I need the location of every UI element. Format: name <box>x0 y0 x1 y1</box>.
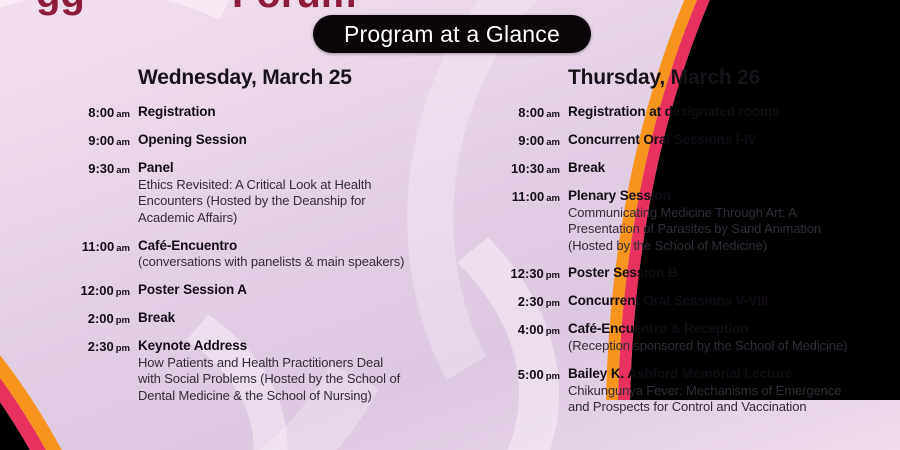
schedule-row-description: Ethics Revisited: A Critical Look at Hea… <box>138 177 466 227</box>
schedule-columns: Wednesday, March 25 8:00amRegistration9:… <box>0 0 900 450</box>
schedule-row-ampm: am <box>546 137 560 148</box>
schedule-row-time: 2:00pm <box>46 310 138 326</box>
schedule-row-ampm: pm <box>116 343 130 354</box>
schedule-row-time: 4:00pm <box>476 321 568 337</box>
schedule-row-ampm: pm <box>546 371 560 382</box>
schedule-row-time: 9:30am <box>46 160 138 176</box>
schedule-row-description: (Reception sponsored by the School of Me… <box>568 338 896 355</box>
schedule-row-time: 8:00am <box>46 104 138 120</box>
schedule-row: 5:00pmBailey K. Ashford Memorial Lecture… <box>476 366 896 416</box>
schedule-row-ampm: am <box>116 109 130 120</box>
schedule-row-title: Concurrent Oral Sessions V-VIII <box>568 293 896 310</box>
schedule-row-time: 2:30pm <box>46 338 138 354</box>
schedule-row-description: (conversations with panelists & main spe… <box>138 254 466 271</box>
schedule-row-title: Poster Session A <box>138 282 466 299</box>
program-poster: gg Forum Program at a Glance Wednesday, … <box>0 0 900 450</box>
schedule-row: 9:00amOpening Session <box>46 132 466 149</box>
schedule-row-ampm: am <box>546 109 560 120</box>
schedule-row-title: Keynote Address <box>138 338 466 355</box>
schedule-row-title: Bailey K. Ashford Memorial Lecture <box>568 366 896 383</box>
schedule-row-body: Poster Session A <box>138 282 466 299</box>
schedule-row-ampm: pm <box>116 287 130 298</box>
schedule-row-title: Registration at designated rooms <box>568 104 896 121</box>
schedule-row: 11:00amCafé-Encuentro(conversations with… <box>46 238 466 272</box>
day-title-thursday: Thursday, March 26 <box>476 66 896 90</box>
schedule-row-body: Café-Encuentro & Reception(Reception spo… <box>568 321 896 355</box>
schedule-row: 12:00pmPoster Session A <box>46 282 466 299</box>
schedule-row-body: Plenary SessionCommunicating Medicine Th… <box>568 188 896 255</box>
schedule-row-body: Café-Encuentro(conversations with paneli… <box>138 238 466 272</box>
schedule-row: 9:30amPanelEthics Revisited: A Critical … <box>46 160 466 227</box>
schedule-row: 2:30pmKeynote AddressHow Patients and He… <box>46 338 466 405</box>
schedule-row-description: Communicating Medicine Through Art: A Pr… <box>568 205 896 255</box>
schedule-row-time: 2:30pm <box>476 293 568 309</box>
schedule-row-ampm: pm <box>546 270 560 281</box>
schedule-row-ampm: am <box>116 137 130 148</box>
schedule-row-title: Poster Session B <box>568 265 896 282</box>
schedule-row-body: Break <box>138 310 466 327</box>
schedule-row-time: 8:00am <box>476 104 568 120</box>
schedule-row-title: Concurrent Oral Sessions I-IV <box>568 132 896 149</box>
program-at-a-glance-badge: Program at a Glance <box>313 15 591 53</box>
schedule-row: 10:30amBreak <box>476 160 896 177</box>
schedule-row-ampm: pm <box>546 298 560 309</box>
schedule-row-time: 12:30pm <box>476 265 568 281</box>
schedule-row: 8:00amRegistration at designated rooms <box>476 104 896 121</box>
schedule-row-ampm: pm <box>546 326 560 337</box>
schedule-row-time: 9:00am <box>476 132 568 148</box>
schedule-row-time: 5:00pm <box>476 366 568 382</box>
program-at-a-glance-label: Program at a Glance <box>344 21 560 48</box>
schedule-row-time: 11:00am <box>476 188 568 204</box>
schedule-row-body: PanelEthics Revisited: A Critical Look a… <box>138 160 466 227</box>
day-title-wednesday: Wednesday, March 25 <box>46 66 466 90</box>
schedule-row: 12:30pmPoster Session B <box>476 265 896 282</box>
schedule-row-body: Registration <box>138 104 466 121</box>
schedule-row: 2:30pmConcurrent Oral Sessions V-VIII <box>476 293 896 310</box>
schedule-row-ampm: am <box>546 193 560 204</box>
schedule-row-body: Bailey K. Ashford Memorial LectureChikun… <box>568 366 896 416</box>
schedule-row-title: Plenary Session <box>568 188 896 205</box>
schedule-row-time: 9:00am <box>46 132 138 148</box>
schedule-row-ampm: am <box>116 165 130 176</box>
schedule-row: 9:00amConcurrent Oral Sessions I-IV <box>476 132 896 149</box>
schedule-row-time: 12:00pm <box>46 282 138 298</box>
schedule-row: 4:00pmCafé-Encuentro & Reception(Recepti… <box>476 321 896 355</box>
schedule-row-title: Registration <box>138 104 466 121</box>
schedule-row-ampm: am <box>116 243 130 254</box>
schedule-row-body: Break <box>568 160 896 177</box>
schedule-rows-wednesday: 8:00amRegistration9:00amOpening Session9… <box>46 104 466 405</box>
schedule-row-ampm: am <box>546 165 560 176</box>
schedule-row-title: Opening Session <box>138 132 466 149</box>
schedule-row-description: How Patients and Health Practitioners De… <box>138 355 466 405</box>
schedule-row-body: Opening Session <box>138 132 466 149</box>
schedule-row-body: Concurrent Oral Sessions V-VIII <box>568 293 896 310</box>
schedule-column-wednesday: Wednesday, March 25 8:00amRegistration9:… <box>46 66 466 416</box>
schedule-row-time: 10:30am <box>476 160 568 176</box>
schedule-row-body: Registration at designated rooms <box>568 104 896 121</box>
schedule-rows-thursday: 8:00amRegistration at designated rooms9:… <box>476 104 896 416</box>
schedule-row-body: Keynote AddressHow Patients and Health P… <box>138 338 466 405</box>
schedule-row-time: 11:00am <box>46 238 138 254</box>
schedule-row-title: Break <box>568 160 896 177</box>
schedule-row: 11:00amPlenary SessionCommunicating Medi… <box>476 188 896 255</box>
schedule-row-title: Break <box>138 310 466 327</box>
schedule-row-description: Chikungunya Fever: Mechanisms of Emergen… <box>568 383 896 416</box>
schedule-row-body: Concurrent Oral Sessions I-IV <box>568 132 896 149</box>
schedule-row: 2:00pmBreak <box>46 310 466 327</box>
schedule-row-ampm: pm <box>116 315 130 326</box>
schedule-column-thursday: Thursday, March 26 8:00amRegistration at… <box>476 66 896 427</box>
schedule-row-title: Café-Encuentro <box>138 238 466 255</box>
schedule-row-title: Café-Encuentro & Reception <box>568 321 896 338</box>
schedule-row: 8:00amRegistration <box>46 104 466 121</box>
schedule-row-title: Panel <box>138 160 466 177</box>
schedule-row-body: Poster Session B <box>568 265 896 282</box>
